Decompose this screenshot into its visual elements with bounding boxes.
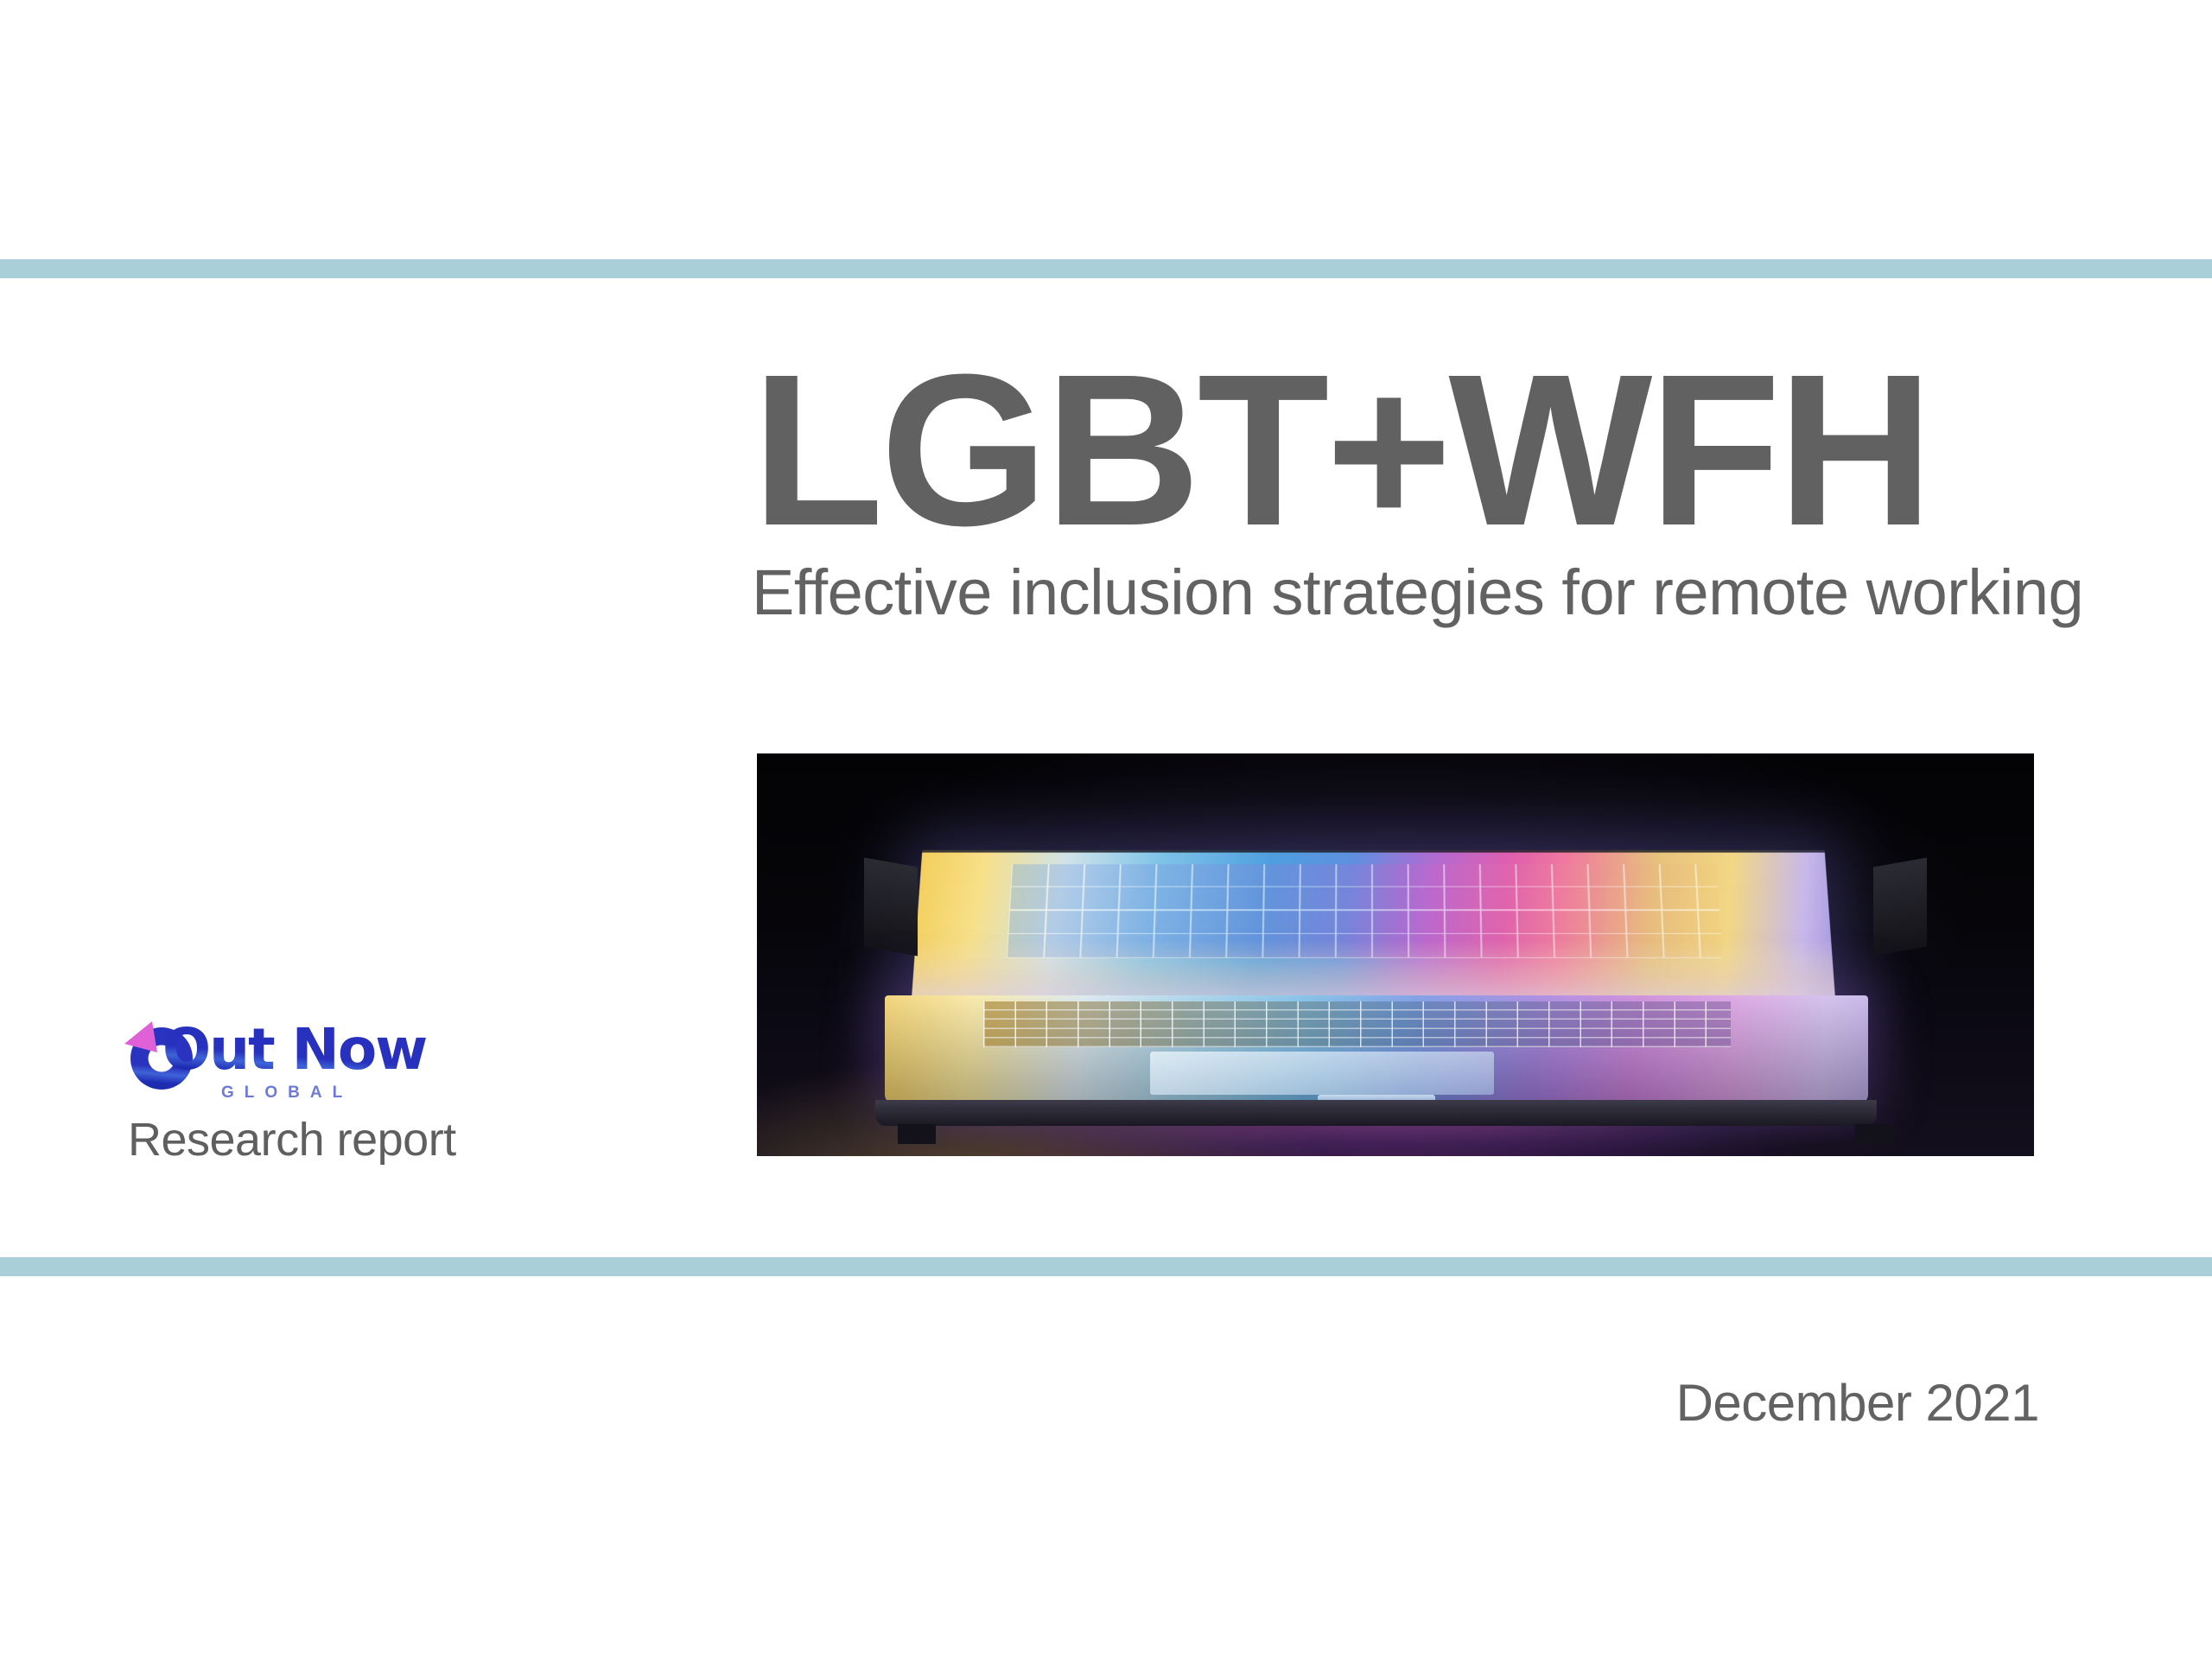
report-cover-page: LGBT+WFH Effective inclusion strategies …: [0, 0, 2212, 1659]
laptop-hinge-left: [864, 857, 918, 955]
laptop-front-edge: [875, 1100, 1877, 1126]
out-now-global-logo: Out Now GLOBAL: [128, 1025, 413, 1108]
laptop-foot-left: [898, 1124, 936, 1144]
branding-block: Out Now GLOBAL Research report: [128, 1025, 491, 1108]
top-divider-rule: [0, 259, 2212, 278]
bottom-divider-rule: [0, 1257, 2212, 1276]
laptop-rainbow-backlit-photo: [757, 753, 2034, 1156]
publication-date: December 2021: [0, 1377, 2039, 1429]
title-block: LGBT+WFH Effective inclusion strategies …: [752, 344, 2035, 626]
laptop-hinge-right: [1873, 857, 1927, 955]
laptop-trackpad: [1150, 1052, 1494, 1095]
page-title: LGBT+WFH: [752, 344, 2035, 556]
photo-background: [757, 753, 2034, 1156]
keyboard-keys: [983, 1001, 1731, 1047]
laptop-foot-right: [1855, 1124, 1893, 1144]
logo-tagline: GLOBAL: [221, 1084, 353, 1103]
laptop-screen: [911, 849, 1835, 1004]
report-kind-label: Research report: [128, 1116, 456, 1163]
pink-triangle-arrow-icon: [123, 1020, 162, 1056]
laptop-keyboard-deck: [885, 995, 1868, 1104]
logo-wordmark: Out Now: [162, 1021, 426, 1078]
page-subtitle: Effective inclusion strategies for remot…: [752, 559, 2035, 626]
screen-glow: [911, 939, 1835, 1004]
